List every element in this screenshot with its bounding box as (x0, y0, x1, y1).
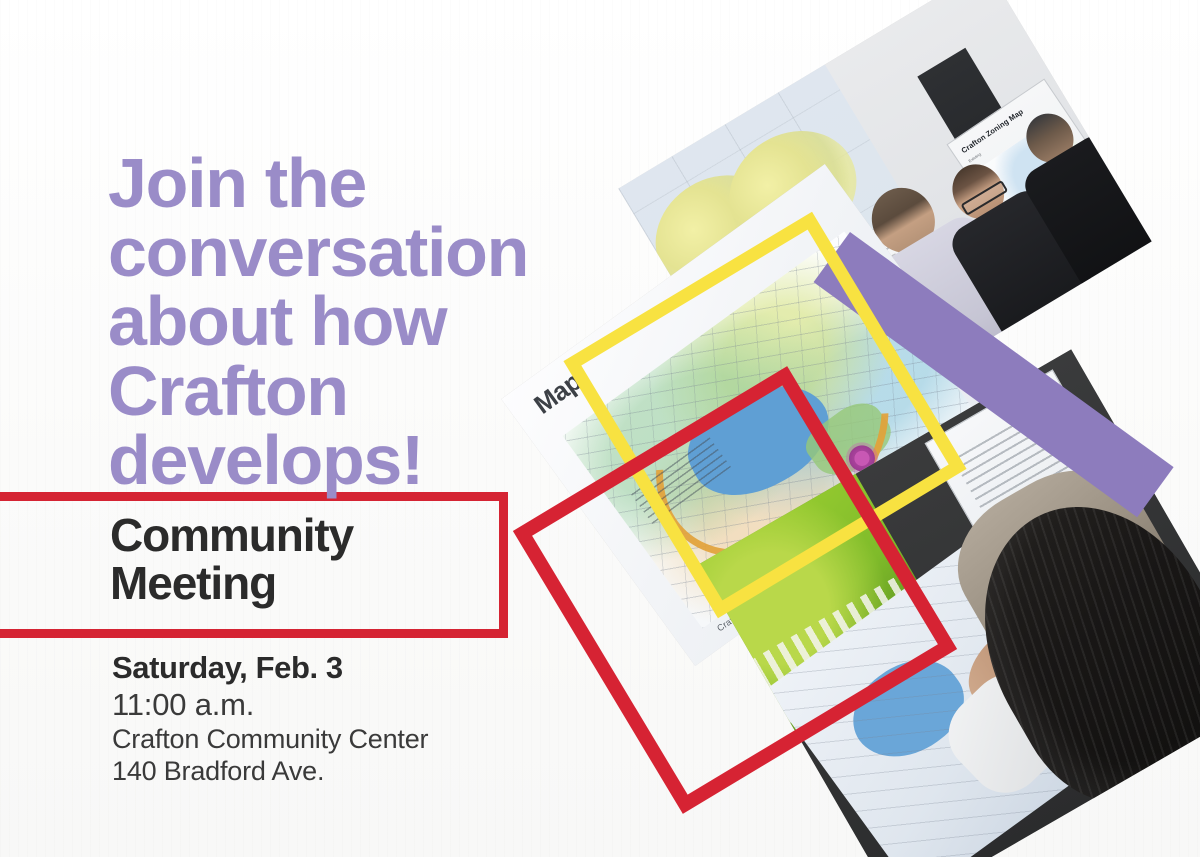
event-venue: Crafton Community Center (112, 723, 428, 755)
headline-line: about how (108, 287, 628, 356)
page-title: Join the conversation about how Crafton … (108, 149, 628, 495)
event-address: 140 Bradford Ave. (112, 755, 428, 787)
headline-line: develops! (108, 426, 628, 495)
meeting-title-line: Community (110, 512, 353, 560)
headline-line: Crafton (108, 357, 628, 426)
event-time: 11:00 a.m. (112, 686, 428, 723)
event-date: Saturday, Feb. 3 (112, 650, 428, 686)
poster-canvas: Crafton Zoning Map Existing (0, 0, 1200, 857)
headline-line: conversation (108, 218, 628, 287)
event-details: Saturday, Feb. 3 11:00 a.m. Crafton Comm… (112, 650, 428, 788)
headline-line: Join the (108, 149, 628, 218)
meeting-title: Community Meeting (110, 512, 353, 608)
meeting-title-line: Meeting (110, 560, 353, 608)
